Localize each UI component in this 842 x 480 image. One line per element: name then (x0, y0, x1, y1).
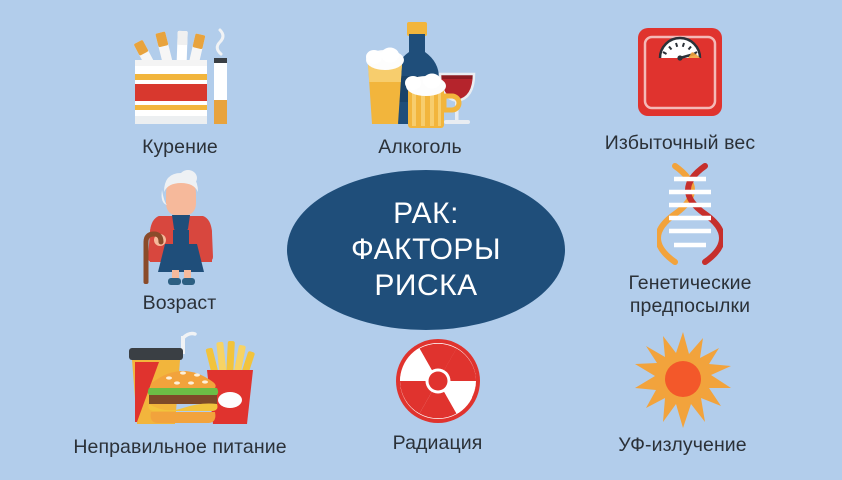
factor-nutrition: Неправильное питание (20, 330, 340, 459)
alcohol-drinks-icon-box (360, 18, 480, 130)
factor-uv-label: УФ-излучение (618, 434, 747, 457)
factor-smoking: Курение (60, 18, 300, 159)
cigarette-pack-icon-box (125, 18, 235, 130)
factor-radiation-label: Радиация (393, 432, 483, 455)
factor-uv: УФ-излучение (565, 332, 800, 457)
radiation-trefoil-icon-box (393, 336, 483, 426)
center-title: РАК: ФАКТОРЫ РИСКА (351, 196, 501, 304)
elderly-woman-icon-box (132, 168, 228, 286)
factor-weight-label: Избыточный вес (605, 132, 755, 155)
fast-food-icon (105, 330, 255, 430)
factor-nutrition-label: Неправильное питание (73, 436, 286, 459)
cigarette-pack-icon (125, 18, 235, 130)
dna-helix-icon-box (657, 162, 723, 266)
bathroom-scale-icon (630, 18, 730, 126)
factor-alcohol-label: Алкоголь (378, 136, 461, 159)
bathroom-scale-icon-box (630, 18, 730, 126)
factor-age: Возраст (62, 168, 297, 315)
sun-icon (635, 332, 731, 428)
factor-weight: Избыточный вес (560, 18, 800, 155)
factor-smoking-label: Курение (142, 136, 218, 159)
infographic-poster: Курение (0, 0, 842, 480)
factor-genetics-label: Генетические предпосылки (628, 272, 751, 318)
center-ellipse: РАК: ФАКТОРЫ РИСКА (287, 170, 565, 330)
factor-age-label: Возраст (143, 292, 217, 315)
factor-genetics: Генетические предпосылки (565, 162, 815, 318)
sun-icon-box (635, 332, 731, 428)
factor-radiation: Радиация (340, 336, 535, 455)
elderly-woman-icon (132, 168, 228, 286)
radiation-trefoil-icon (393, 336, 483, 426)
alcohol-drinks-icon (360, 18, 480, 130)
fast-food-icon-box (105, 330, 255, 430)
dna-helix-icon (657, 162, 723, 266)
factor-alcohol: Алкоголь (310, 18, 530, 159)
